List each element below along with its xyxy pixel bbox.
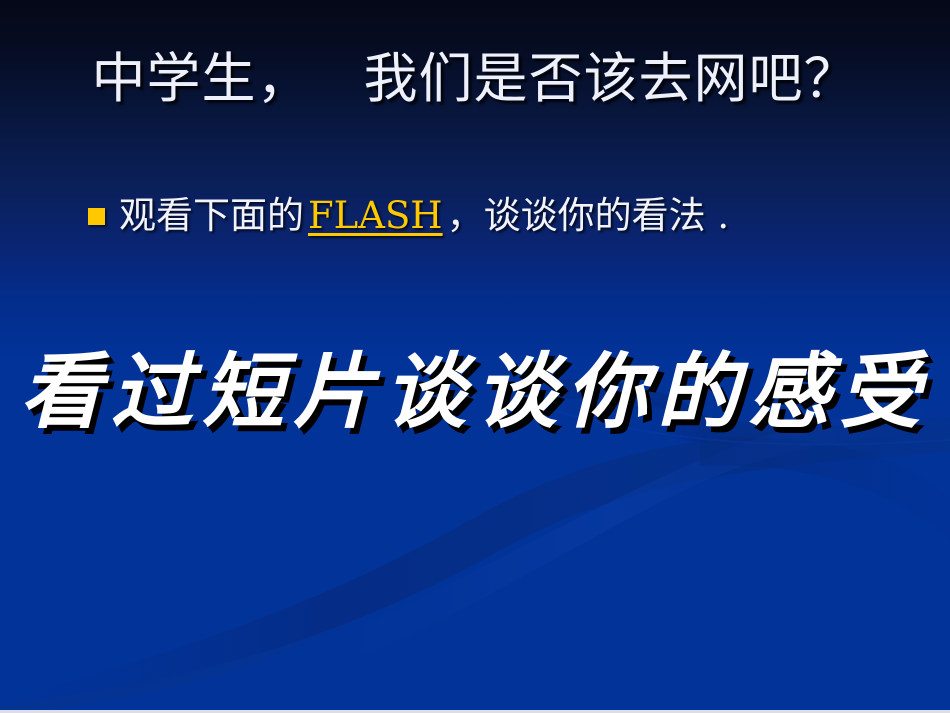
bullet-text-before: 观看下面的 <box>119 194 304 237</box>
title-part-one: 中学生， <box>92 47 312 110</box>
bullet-text: 观看下面的FLASH，谈谈你的看法 . <box>119 193 729 239</box>
square-bullet-icon <box>88 208 105 225</box>
flash-hyperlink[interactable]: FLASH <box>304 194 447 237</box>
bullet-text-after: ，谈谈你的看法 . <box>447 194 730 237</box>
headline-text: 看过短片谈谈你的感受 <box>0 340 950 444</box>
bullet-list-item: 观看下面的FLASH，谈谈你的看法 . <box>88 193 729 239</box>
title-part-two: 我们是否该去网吧？ <box>364 47 859 110</box>
presentation-slide: 中学生，我们是否该去网吧？ 观看下面的FLASH，谈谈你的看法 . 看过短片谈谈… <box>0 0 950 713</box>
slide-title: 中学生，我们是否该去网吧？ <box>0 48 950 110</box>
